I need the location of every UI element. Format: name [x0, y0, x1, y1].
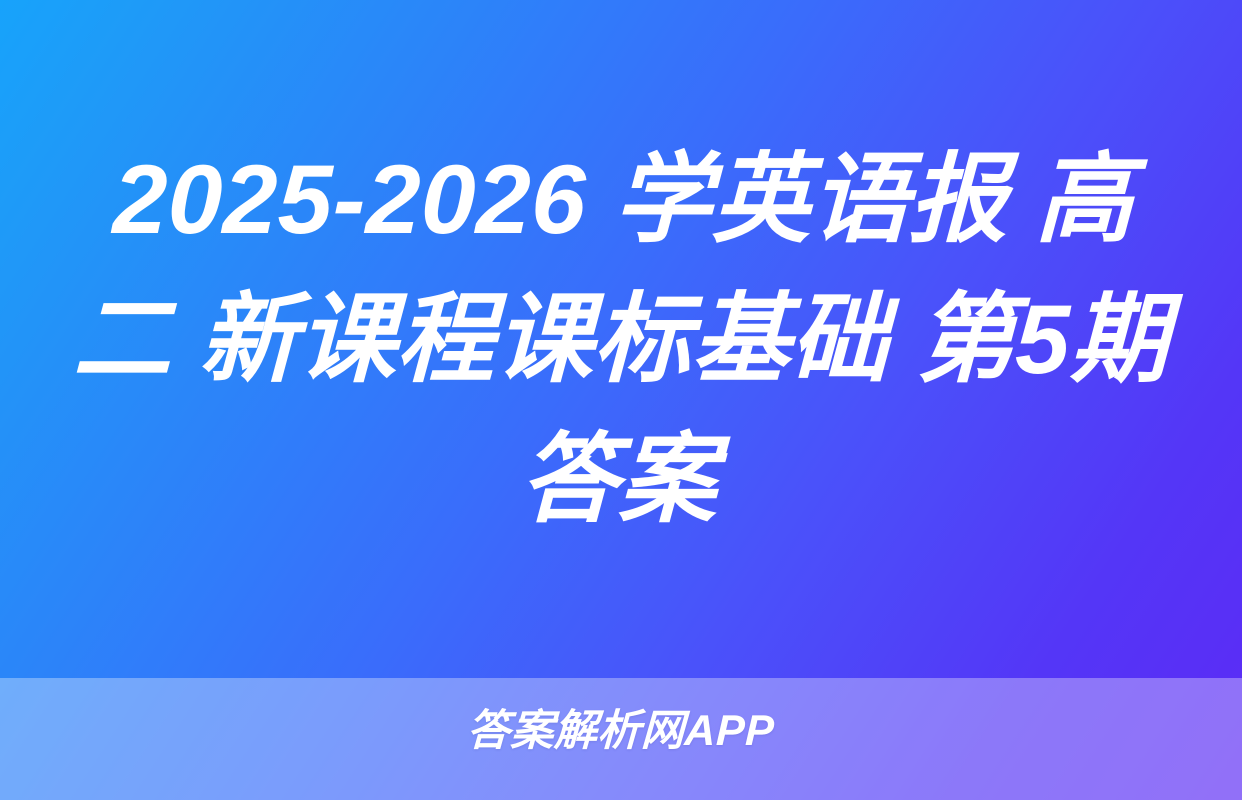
hero-title-area: 2025-2026 学英语报 高二 新课程课标基础 第5期答案 [0, 0, 1242, 678]
page-title: 2025-2026 学英语报 高二 新课程课标基础 第5期答案 [66, 129, 1175, 549]
footer-watermark-band: 答案解析网APP [0, 678, 1242, 800]
app-watermark-label: 答案解析网APP [466, 708, 775, 754]
answer-cover-card: 2025-2026 学英语报 高二 新课程课标基础 第5期答案 答案解析网APP [0, 0, 1242, 800]
